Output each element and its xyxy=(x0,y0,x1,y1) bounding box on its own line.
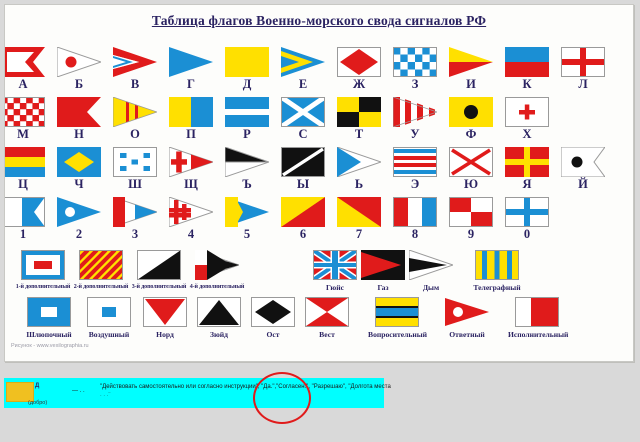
flag-label: 1 xyxy=(4,228,45,241)
flag-icon-p xyxy=(169,97,213,127)
flag-icon-question xyxy=(375,297,419,327)
flag-label: Шлюпочный xyxy=(20,328,78,341)
flag-label: Ь xyxy=(337,178,381,191)
flag-cell-telegraph: Телеграфный xyxy=(467,250,527,294)
flag-icon-n1 xyxy=(4,197,45,227)
flag-icon-v xyxy=(113,47,157,77)
flag-icon-n3 xyxy=(113,197,157,227)
flag-label: Э xyxy=(393,178,437,191)
flag-cell-ost: Ост xyxy=(244,297,302,341)
flag-icon-b xyxy=(57,47,101,77)
flag-cell-answer: Ответный xyxy=(438,297,496,341)
flag-label: У xyxy=(393,128,437,141)
flag-cell-n0: 0 xyxy=(505,197,549,241)
flag-icon-k xyxy=(505,47,549,77)
flag-cell-west: Вест xyxy=(298,297,356,341)
flag-label: В xyxy=(113,78,157,91)
flag-icon-n2 xyxy=(57,197,101,227)
flag-icon-jack xyxy=(313,250,357,280)
flag-icon-soft xyxy=(337,147,381,177)
flag-cell-sh: Ш xyxy=(113,147,157,191)
flag-icon-l xyxy=(561,47,605,77)
flag-icon-telegraph xyxy=(475,250,519,280)
flag-icon-j xyxy=(561,147,605,177)
flag-cell-n2: 2 xyxy=(57,197,101,241)
flag-cell-t: Т xyxy=(337,97,381,141)
flag-icon-executive xyxy=(515,297,559,327)
flag-cell-n7: 7 xyxy=(337,197,381,241)
flag-label: 4-й дополнительный xyxy=(189,281,245,294)
flag-label: Ж xyxy=(337,78,381,91)
flag-cell-i: И xyxy=(449,47,493,91)
flag-cell-b: Б xyxy=(57,47,101,91)
flag-icon-h xyxy=(505,97,549,127)
flag-cell-u: У xyxy=(393,97,437,141)
flag-label: Е xyxy=(281,78,325,91)
flag-cell-sup1: 1-й дополнительный xyxy=(15,250,71,294)
flag-cell-n5: 5 xyxy=(225,197,269,241)
watermark-credit: Рисунок - www.vexilographia.ru xyxy=(11,343,89,349)
flag-cell-hard: Ъ xyxy=(225,147,269,191)
flag-label: Ш xyxy=(113,178,157,191)
flag-label: Ост xyxy=(244,328,302,341)
strip-flag-sublabel: (добро) xyxy=(28,400,47,406)
flag-icon-zh xyxy=(337,47,381,77)
flag-cell-j: Й xyxy=(561,147,605,191)
flag-label: Й xyxy=(561,178,605,191)
flag-label: Х xyxy=(505,128,549,141)
flag-icon-y xyxy=(281,147,325,177)
flag-icon-sup1 xyxy=(21,250,65,280)
flag-cell-executive: Исполнительный xyxy=(508,297,566,341)
flag-cell-k: К xyxy=(505,47,549,91)
strip-morse-code: — . . xyxy=(72,388,85,394)
flag-cell-g: Г xyxy=(169,47,213,91)
flag-label: К xyxy=(505,78,549,91)
flag-icon-n9 xyxy=(449,197,493,227)
flag-cell-s: С xyxy=(281,97,325,141)
flag-label: 5 xyxy=(225,228,269,241)
flag-label: Я xyxy=(505,178,549,191)
flag-cell-r: Р xyxy=(225,97,269,141)
flag-cell-shch: Щ xyxy=(169,147,213,191)
flag-cell-d: Д xyxy=(225,47,269,91)
flag-label: О xyxy=(113,128,157,141)
flag-icon-shch xyxy=(169,147,213,177)
flag-cell-question: Вопросительный xyxy=(368,297,426,341)
flag-cell-o: О xyxy=(113,97,157,141)
flag-label: Ъ xyxy=(225,178,269,191)
flag-cell-e: Е xyxy=(281,47,325,91)
flag-cell-ya: Я xyxy=(505,147,549,191)
flag-label: Ф xyxy=(449,128,493,141)
flag-label: Р xyxy=(225,128,269,141)
flag-cell-n3: 3 xyxy=(113,197,157,241)
flag-label: 8 xyxy=(393,228,437,241)
flag-label: З xyxy=(393,78,437,91)
flag-icon-a xyxy=(4,47,45,77)
screenshot-root: Таблица флагов Военно-морского свода сиг… xyxy=(0,0,640,442)
flag-cell-n8: 8 xyxy=(393,197,437,241)
flag-cell-air: Воздушный xyxy=(80,297,138,341)
flag-icon-gas xyxy=(361,250,405,280)
red-ellipse-highlight xyxy=(253,372,311,424)
flag-cell-ch: Ч xyxy=(57,147,101,191)
flag-icon-boat xyxy=(27,297,71,327)
flag-label: Вопросительный xyxy=(368,328,426,341)
flag-icon-e xyxy=(281,47,325,77)
flag-label: М xyxy=(4,128,45,141)
flag-icon-sup2 xyxy=(79,250,123,280)
flag-label: 1-й дополнительный xyxy=(15,281,71,294)
flag-cell-sup3: 3-й дополнительный xyxy=(131,250,187,294)
flag-icon-nord xyxy=(143,297,187,327)
flag-label: 9 xyxy=(449,228,493,241)
flag-label: А xyxy=(4,78,45,91)
flag-D-yellow xyxy=(6,382,34,402)
flag-cell-h: Х xyxy=(505,97,549,141)
flag-label: 2-й дополнительный xyxy=(73,281,129,294)
flag-cell-smoke: Дым xyxy=(401,250,461,294)
flag-cell-y: Ы xyxy=(281,147,325,191)
flag-icon-t xyxy=(337,97,381,127)
flag-icon-ya xyxy=(505,147,549,177)
flag-icon-sh xyxy=(113,147,157,177)
flag-label: Исполнительный xyxy=(508,328,566,341)
flag-label: 6 xyxy=(281,228,325,241)
flag-cell-n: Н xyxy=(57,97,101,141)
flag-cell-eh: Э xyxy=(393,147,437,191)
flag-icon-n xyxy=(57,97,101,127)
flag-label: Л xyxy=(561,78,605,91)
flag-icon-o xyxy=(113,97,157,127)
flag-icon-sup3 xyxy=(137,250,181,280)
flag-icon-smoke xyxy=(409,250,453,280)
flag-label: 0 xyxy=(505,228,549,241)
flag-icon-air xyxy=(87,297,131,327)
flag-cell-soft: Ь xyxy=(337,147,381,191)
flag-icon-r xyxy=(225,97,269,127)
flag-cell-n4: 4 xyxy=(169,197,213,241)
flag-icon-s xyxy=(281,97,325,127)
bottom-info-strip: Д (добро) — . . "Действовать самостоятел… xyxy=(4,378,384,408)
flag-icon-n4 xyxy=(169,197,213,227)
flag-label: Зюйд xyxy=(190,328,248,341)
flag-cell-yu: Ю xyxy=(449,147,493,191)
strip-meaning-text: "Действовать самостоятельно или согласно… xyxy=(100,384,391,390)
flag-icon-eh xyxy=(393,147,437,177)
flag-icon-m xyxy=(4,97,45,127)
flag-cell-n1: 1 xyxy=(4,197,45,241)
flag-icon-yu xyxy=(449,147,493,177)
flag-label: Ю xyxy=(449,178,493,191)
flag-icon-west xyxy=(305,297,349,327)
flag-icon-z xyxy=(393,47,437,77)
flag-icon-ost xyxy=(251,297,295,327)
flag-icon-n6 xyxy=(281,197,325,227)
flag-cell-n6: 6 xyxy=(281,197,325,241)
flag-icon-ts xyxy=(4,147,45,177)
flag-icon-hard xyxy=(225,147,269,177)
flag-grid: АБВГДЕЖЗИКЛМНОПРСТУФХЦЧШЩЪЫЬЭЮЯЙ12345678… xyxy=(5,5,633,361)
flag-icon-zuid xyxy=(197,297,241,327)
flag-cell-nord: Норд xyxy=(136,297,194,341)
flag-label: Вест xyxy=(298,328,356,341)
strip-flag-letter: Д xyxy=(35,383,39,389)
flag-cell-zh: Ж xyxy=(337,47,381,91)
strip-meaning-secondary: . . ." xyxy=(100,392,110,398)
flag-cell-sup4: 4-й дополнительный xyxy=(189,250,245,294)
flag-label: Ы xyxy=(281,178,325,191)
flag-label: Ц xyxy=(4,178,45,191)
flag-icon-n7 xyxy=(337,197,381,227)
flag-icon-answer xyxy=(445,297,489,327)
flag-icon-ch xyxy=(57,147,101,177)
flag-label: Г xyxy=(169,78,213,91)
flag-label: Т xyxy=(337,128,381,141)
flag-cell-zuid: Зюйд xyxy=(190,297,248,341)
flag-cell-z: З xyxy=(393,47,437,91)
flag-label: Ответный xyxy=(438,328,496,341)
flag-label: 4 xyxy=(169,228,213,241)
flag-icon-d xyxy=(225,47,269,77)
flag-label: Норд xyxy=(136,328,194,341)
flag-cell-sup2: 2-й дополнительный xyxy=(73,250,129,294)
flag-cell-ts: Ц xyxy=(4,147,45,191)
flag-label: Б xyxy=(57,78,101,91)
flag-cell-n9: 9 xyxy=(449,197,493,241)
flag-label: Воздушный xyxy=(80,328,138,341)
flag-icon-n0 xyxy=(505,197,549,227)
flag-label: И xyxy=(449,78,493,91)
flag-cell-f: Ф xyxy=(449,97,493,141)
flag-icon-sup4 xyxy=(195,250,239,280)
flag-icon-n5 xyxy=(225,197,269,227)
flag-cell-v: В xyxy=(113,47,157,91)
flag-label: 3-й дополнительный xyxy=(131,281,187,294)
flag-label: Д xyxy=(225,78,269,91)
flag-table-sheet: Таблица флагов Военно-морского свода сиг… xyxy=(4,4,634,362)
flag-cell-boat: Шлюпочный xyxy=(20,297,78,341)
flag-label: Телеграфный xyxy=(467,281,527,294)
flag-label: Щ xyxy=(169,178,213,191)
flag-label: С xyxy=(281,128,325,141)
flag-label: 2 xyxy=(57,228,101,241)
flag-icon-n8 xyxy=(393,197,437,227)
flag-label: 3 xyxy=(113,228,157,241)
flag-cell-l: Л xyxy=(561,47,605,91)
flag-cell-m: М xyxy=(4,97,45,141)
flag-label: П xyxy=(169,128,213,141)
flag-cell-p: П xyxy=(169,97,213,141)
flag-label: Дым xyxy=(401,281,461,294)
flag-cell-a: А xyxy=(4,47,45,91)
flag-icon-i xyxy=(449,47,493,77)
flag-icon-u xyxy=(393,97,437,127)
flag-icon-g xyxy=(169,47,213,77)
flag-label: Ч xyxy=(57,178,101,191)
flag-icon-f xyxy=(449,97,493,127)
flag-label: Н xyxy=(57,128,101,141)
flag-label: 7 xyxy=(337,228,381,241)
